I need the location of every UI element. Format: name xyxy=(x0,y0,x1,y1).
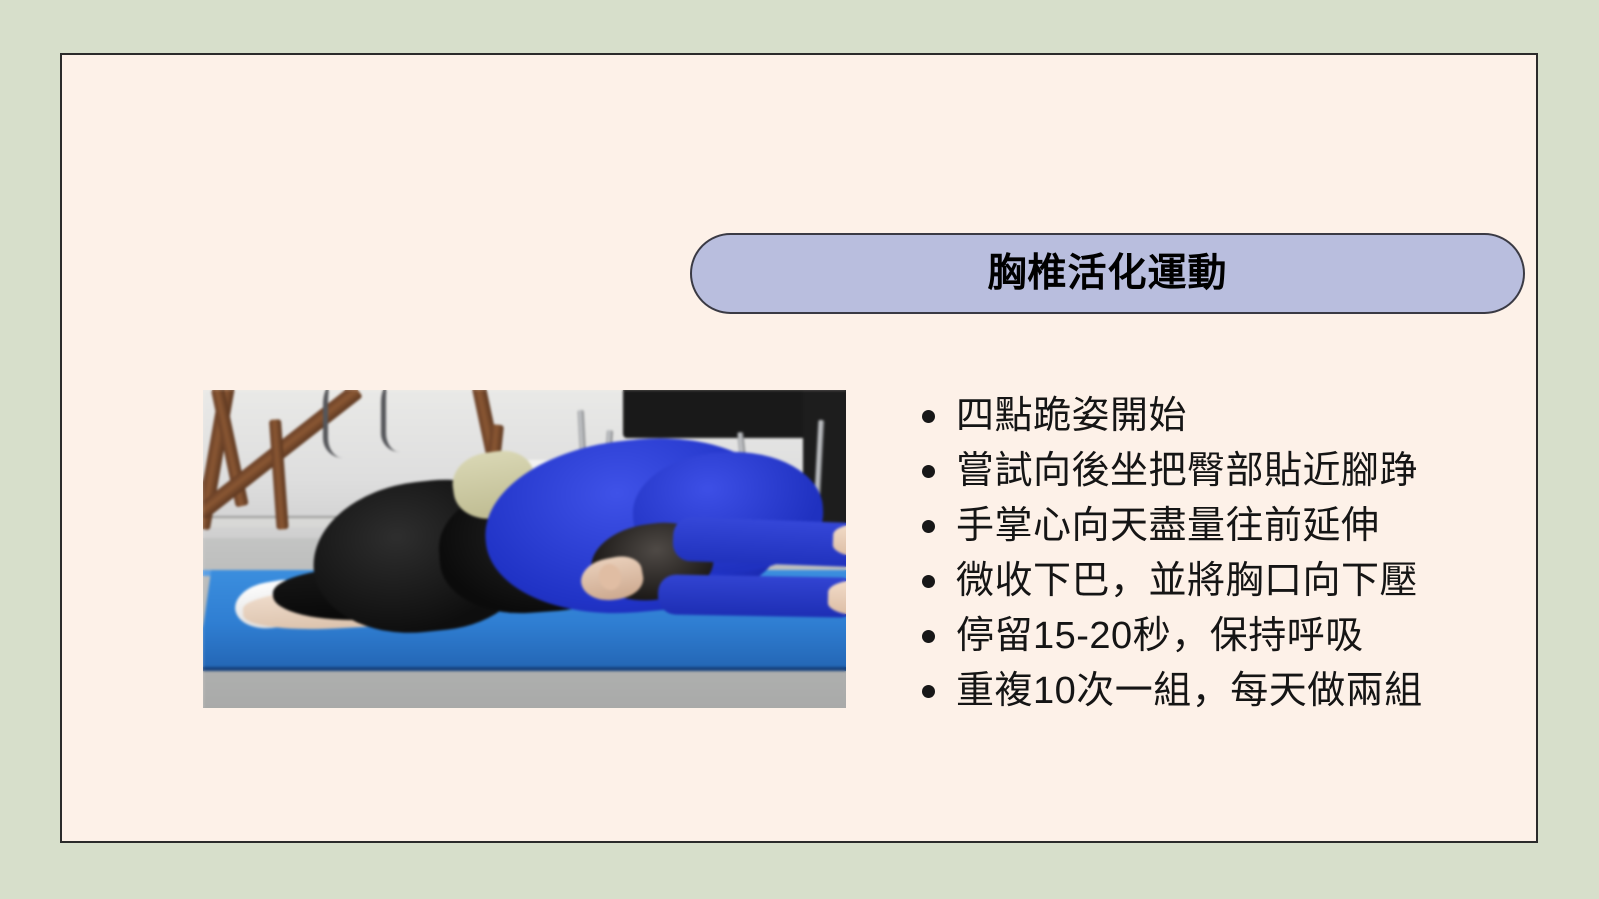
photo-cable xyxy=(381,390,406,452)
page-title: 胸椎活化運動 xyxy=(987,254,1227,293)
bullet-dot-icon xyxy=(922,465,935,478)
content-card: 胸椎活化運動 xyxy=(60,53,1538,843)
bullet-dot-icon xyxy=(922,685,935,698)
list-item-label: 重複10次一組，每天做兩組 xyxy=(956,664,1423,719)
list-item: 重複10次一組，每天做兩組 xyxy=(922,664,1502,719)
list-item: 手掌心向天盡量往前延伸 xyxy=(922,499,1502,554)
bullet-dot-icon xyxy=(922,410,935,423)
list-item-label: 嘗試向後坐把臀部貼近腳踭 xyxy=(956,444,1418,499)
list-item: 微收下巴，並將胸口向下壓 xyxy=(922,554,1502,609)
list-item: 嘗試向後坐把臀部貼近腳踭 xyxy=(922,444,1502,499)
photo-sleeve xyxy=(658,574,846,617)
photo-cable xyxy=(323,390,350,458)
list-item-label: 手掌心向天盡量往前延伸 xyxy=(956,499,1380,554)
bullet-dot-icon xyxy=(922,575,935,588)
exercise-demo-photo xyxy=(203,390,846,708)
instruction-list: 四點跪姿開始 嘗試向後坐把臀部貼近腳踭 手掌心向天盡量往前延伸 微收下巴，並將胸… xyxy=(922,389,1502,719)
bullet-dot-icon xyxy=(922,630,935,643)
list-item-label: 四點跪姿開始 xyxy=(956,389,1187,444)
photo-sleeve xyxy=(672,517,846,568)
slide-canvas: 胸椎活化運動 xyxy=(0,0,1599,899)
list-item: 停留15-20秒，保持呼吸 xyxy=(922,609,1502,664)
list-item: 四點跪姿開始 xyxy=(922,389,1502,444)
list-item-label: 停留15-20秒，保持呼吸 xyxy=(956,609,1364,664)
bullet-dot-icon xyxy=(922,520,935,533)
list-item-label: 微收下巴，並將胸口向下壓 xyxy=(956,554,1418,609)
title-pill: 胸椎活化運動 xyxy=(690,233,1525,314)
